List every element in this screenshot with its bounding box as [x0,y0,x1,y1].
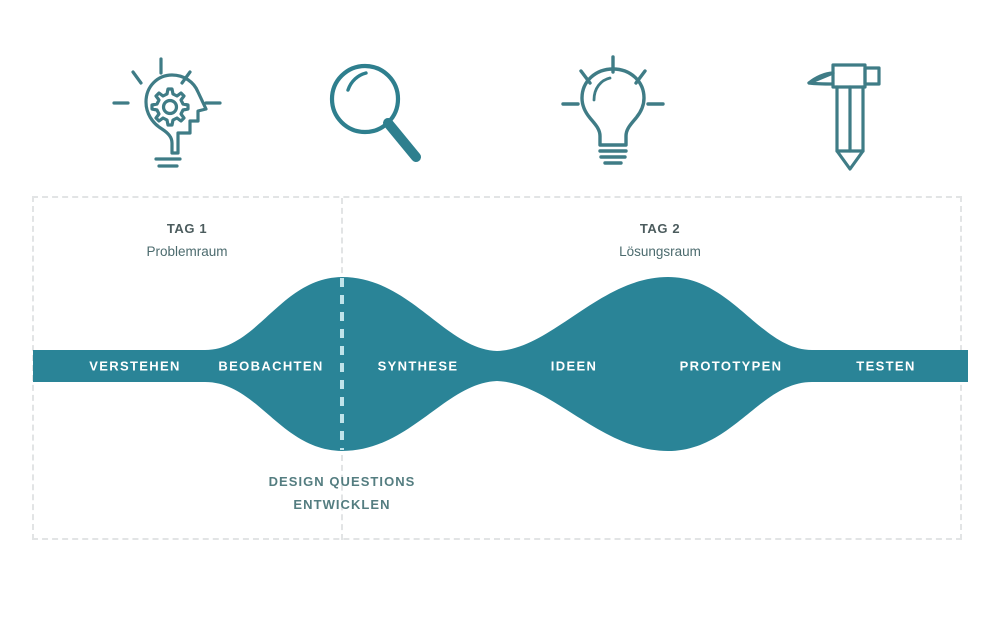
stage-label-ideen: IDEEN [551,359,597,374]
design-questions-caption: DESIGN QUESTIONS ENTWICKLEN [269,470,416,516]
phase-heading-day1: TAG 1 Problemraum [67,220,307,262]
magnifier-icon [300,48,450,178]
phase-title: TAG 2 [540,220,780,238]
stage-label-verstehen: VERSTEHEN [89,359,181,374]
stage-label-testen: TESTEN [856,359,915,374]
diagram-canvas: TAG 1 Problemraum TAG 2 Lösungsraum VERS… [0,0,1000,625]
caption-line-1: DESIGN QUESTIONS [269,470,416,493]
icon-row [0,48,1000,178]
caption-line-2: ENTWICKLEN [269,493,416,516]
phase-title: TAG 1 [67,220,307,238]
hammer-pencil-icon [775,48,925,178]
stage-label-beobachten: BEOBACHTEN [218,359,323,374]
lightbulb-icon [538,48,688,178]
stage-label-synthese: SYNTHESE [378,359,459,374]
stage-label-prototypen: PROTOTYPEN [680,359,783,374]
head-lightbulb-gear-icon [95,48,245,178]
phase-subtitle: Lösungsraum [540,238,780,262]
phase-heading-day2: TAG 2 Lösungsraum [540,220,780,262]
phase-subtitle: Problemraum [67,238,307,262]
